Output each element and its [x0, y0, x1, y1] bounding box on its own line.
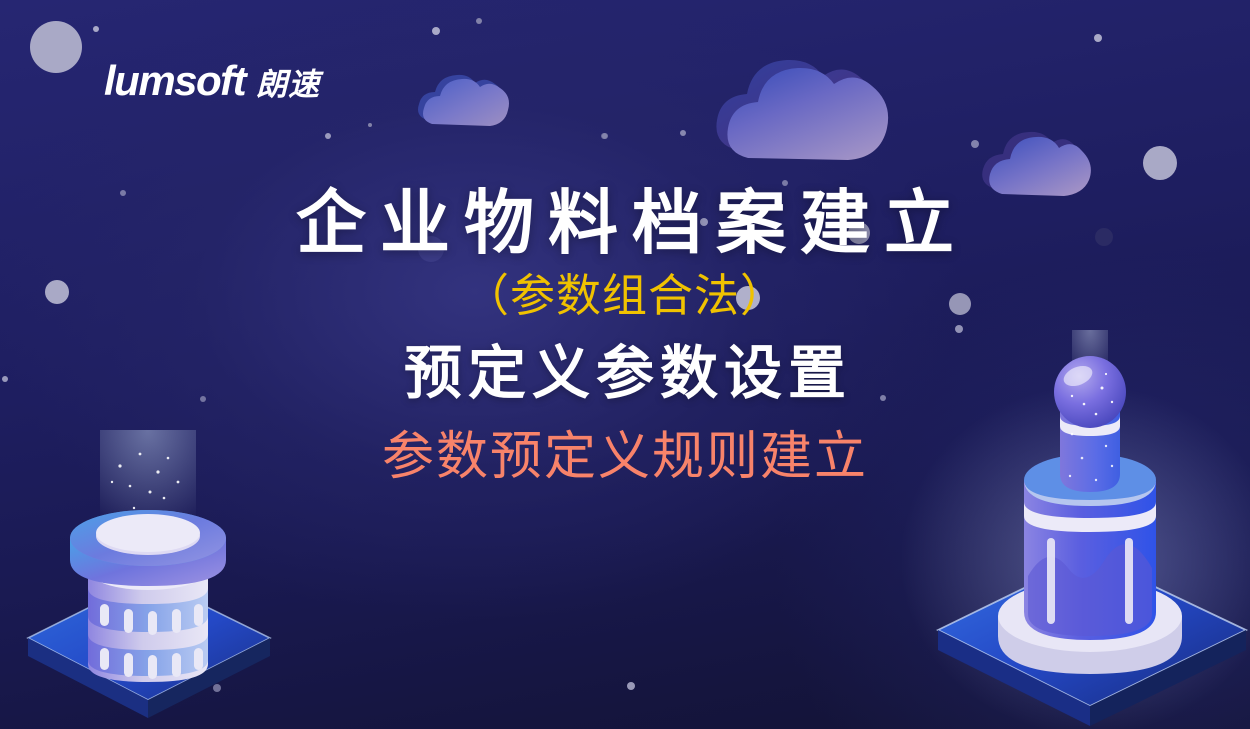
orb-dot-8-icon: [1094, 34, 1102, 42]
brand-logo-latin: lumsoft: [104, 57, 245, 105]
page-title: 企业物料档案建立: [0, 186, 1250, 262]
orb-dot-10-icon: [680, 130, 686, 136]
brand-logo-cjk: 朗速: [256, 59, 320, 104]
title-qualifier: （参数组合法）: [0, 270, 1250, 322]
orb-dot-14-icon: [971, 140, 979, 148]
orb-dot-6-icon: [368, 123, 372, 127]
orb-dot-4-icon: [476, 18, 482, 24]
page-tertiary-title: 参数预定义规则建立: [0, 428, 1250, 486]
orb-right-upper-icon: [1143, 146, 1177, 180]
orb-dot-9-icon: [601, 133, 607, 139]
orb-dot-1-icon: [432, 27, 440, 35]
orb-dot-2-icon: [93, 26, 99, 32]
orb-top-left-icon: [30, 21, 82, 73]
orb-dot-16-icon: [627, 682, 635, 690]
headline-block: 企业物料档案建立 （参数组合法） 预定义参数设置 参数预定义规则建立: [0, 186, 1250, 487]
brand-logo[interactable]: lumsoft 朗速: [104, 57, 320, 105]
orb-dot-5-icon: [325, 133, 331, 139]
banner-canvas: lumsoft 朗速 企业物料档案建立 （参数组合法） 预定义参数设置 参数预定…: [0, 0, 1250, 729]
cloud-icon-left: [418, 64, 538, 144]
page-subtitle: 预定义参数设置: [0, 341, 1250, 406]
cloud-icon-center: [714, 40, 914, 180]
